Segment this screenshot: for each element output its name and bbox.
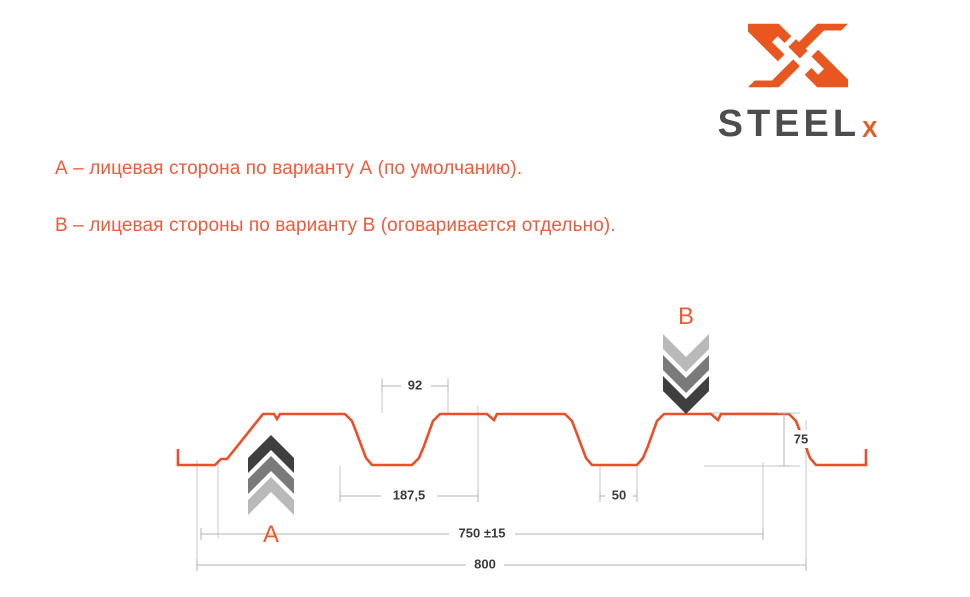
note-variant-a: А – лицевая сторона по варианту А (по ум… xyxy=(55,158,522,180)
dimension-cover-width: 750 ±15 xyxy=(201,525,763,543)
profile-drawing-svg: 92 187,5 50 xyxy=(0,280,970,597)
dimension-crest-width: 92 xyxy=(382,377,448,395)
brand-logo: STEEL X xyxy=(690,18,905,143)
dimension-label-750: 750 ±15 xyxy=(459,525,506,540)
logo-wordmark: STEEL X xyxy=(718,105,878,143)
dimension-trough-width: 50 xyxy=(600,487,637,505)
profile-technical-drawing: 92 187,5 50 xyxy=(0,280,970,597)
dimension-label-800: 800 xyxy=(474,556,496,571)
face-marker-b: В xyxy=(663,303,709,414)
logo-text-x: X xyxy=(862,118,877,141)
dimension-label-75: 75 xyxy=(794,431,808,446)
note-variant-b: В – лицевая стороны по варианту В (огова… xyxy=(55,215,616,237)
chevron-down-stack-icon xyxy=(663,334,709,414)
dimension-label-187-5: 187,5 xyxy=(393,487,426,502)
face-marker-a: А xyxy=(248,435,294,548)
drawing-page: STEEL X А – лицевая сторона по варианту … xyxy=(0,0,970,597)
chevron-up-stack-icon xyxy=(248,435,294,515)
dimension-label-50: 50 xyxy=(612,487,626,502)
face-marker-a-letter: А xyxy=(263,521,279,548)
logo-text-steel: STEEL xyxy=(718,105,860,143)
steelx-x-monogram-icon xyxy=(744,18,852,93)
face-marker-b-letter: В xyxy=(678,303,694,330)
dimension-pitch: 187,5 xyxy=(340,487,478,505)
dimension-overall-width: 800 xyxy=(197,556,806,574)
dimension-label-92: 92 xyxy=(408,377,422,392)
